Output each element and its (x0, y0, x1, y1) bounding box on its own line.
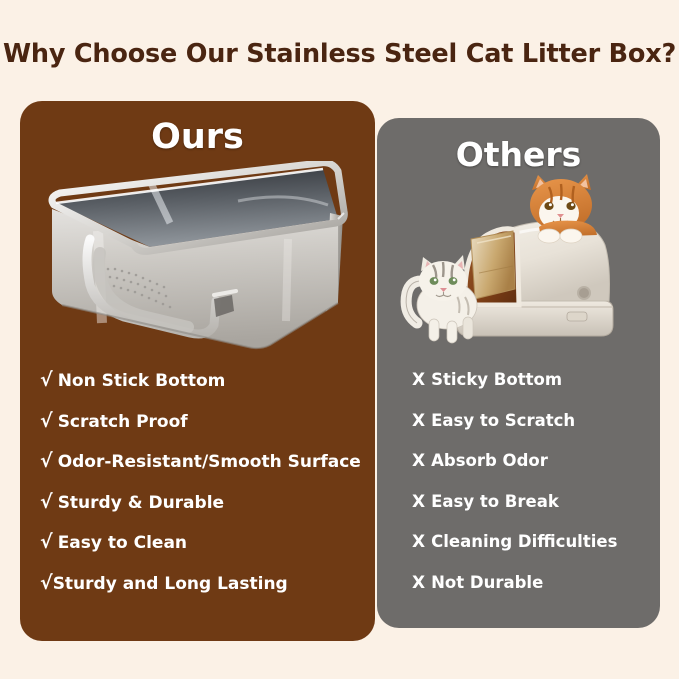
list-item: X Not Durable (412, 573, 657, 614)
feature-label: Sturdy & Durable (58, 493, 224, 513)
comparison-panel-others: Others (377, 118, 660, 628)
check-icon: √ (40, 450, 53, 472)
hood-latch-icon (567, 312, 587, 321)
check-icon: √ (40, 369, 53, 391)
cross-icon: X (412, 573, 425, 593)
check-icon: √ (40, 410, 53, 432)
page-title: Why Choose Our Stainless Steel Cat Litte… (0, 39, 679, 69)
comparison-panel-ours: Ours (20, 101, 375, 641)
feature-label: Non Stick Bottom (58, 371, 226, 391)
list-item: √ Scratch Proof (40, 410, 370, 451)
check-icon: √ (40, 491, 53, 513)
check-icon: √ (40, 572, 53, 594)
feature-label: Easy to Break (431, 492, 559, 511)
list-item: X Sticky Bottom (412, 370, 657, 411)
feature-list-ours: √ Non Stick Bottom √ Scratch Proof √ Odo… (40, 369, 370, 612)
feature-label: Not Durable (431, 573, 543, 592)
stainless-steel-litter-box-image (38, 161, 358, 351)
list-item: √ Sturdy & Durable (40, 491, 370, 532)
list-item: X Easy to Break (412, 492, 657, 533)
feature-list-others: X Sticky Bottom X Easy to Scratch X Abso… (412, 370, 657, 613)
cross-icon: X (412, 492, 425, 512)
feature-label: Cleaning Difficulties (431, 532, 617, 551)
litter-box-flap (471, 231, 515, 299)
cross-icon: X (412, 451, 425, 471)
list-item: X Easy to Scratch (412, 411, 657, 452)
feature-label: Easy to Scratch (431, 411, 575, 430)
list-item: √ Easy to Clean (40, 531, 370, 572)
list-item: X Cleaning Difficulties (412, 532, 657, 573)
cross-icon: X (412, 411, 425, 431)
list-item: √ Non Stick Bottom (40, 369, 370, 410)
check-icon: √ (40, 531, 53, 553)
list-item: √ Sturdy and Long Lasting (40, 572, 370, 613)
feature-label: Scratch Proof (58, 412, 188, 432)
feature-label: Sturdy and Long Lasting (53, 574, 288, 594)
feature-label: Odor-Resistant/Smooth Surface (58, 452, 361, 472)
hooded-litter-box-image (399, 173, 639, 358)
feature-label: Easy to Clean (58, 533, 187, 553)
feature-label: Absorb Odor (431, 451, 548, 470)
panel-heading-others: Others (377, 135, 660, 174)
cat-orange-tabby (530, 174, 597, 243)
panel-heading-ours: Ours (20, 117, 375, 157)
cross-icon: X (412, 370, 425, 390)
list-item: X Absorb Odor (412, 451, 657, 492)
cross-icon: X (412, 532, 425, 552)
feature-label: Sticky Bottom (431, 370, 562, 389)
list-item: √ Odor-Resistant/Smooth Surface (40, 450, 370, 491)
infographic-page: Why Choose Our Stainless Steel Cat Litte… (0, 0, 679, 679)
